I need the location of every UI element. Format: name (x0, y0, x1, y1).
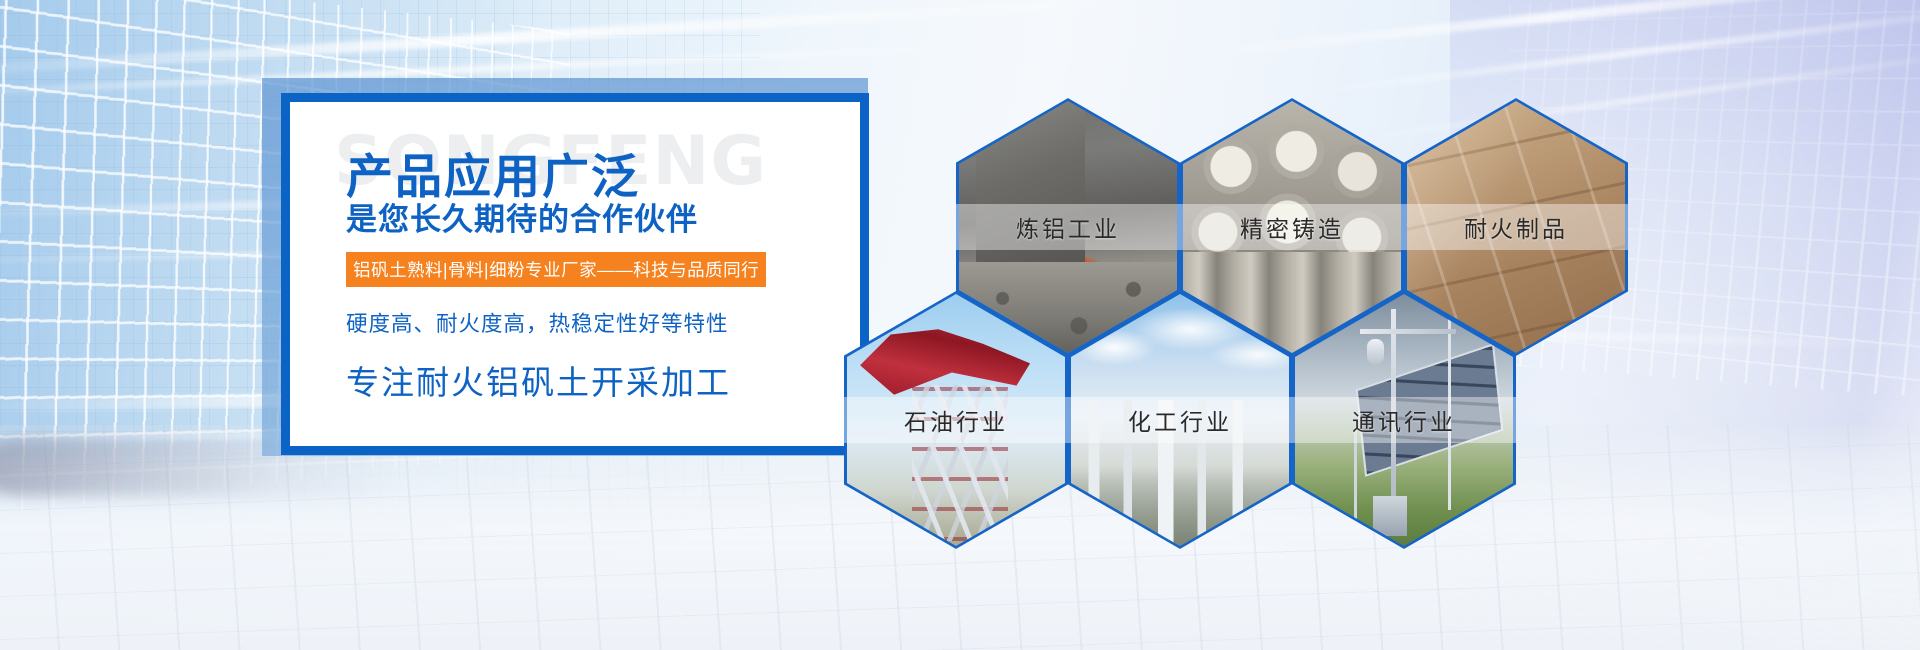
hex-label: 耐火制品 (1404, 204, 1628, 250)
orange-tagline-bar: 铝矾土熟料|骨料|细粉专业厂家——科技与品质同行 (346, 252, 766, 287)
text-panel: SONGFENG 产品应用广泛 是您长久期待的合作伙伴 铝矾土熟料|骨料|细粉专… (290, 102, 860, 446)
orange-tagline-text: 铝矾土熟料|骨料|细粉专业厂家——科技与品质同行 (353, 257, 759, 282)
hex-label: 石油行业 (844, 397, 1068, 443)
hex-label: 化工行业 (1068, 397, 1292, 443)
hex-label: 精密铸造 (1180, 204, 1404, 250)
promo-banner: SONGFENG 产品应用广泛 是您长久期待的合作伙伴 铝矾土熟料|骨料|细粉专… (0, 0, 1920, 650)
subheadline: 是您长久期待的合作伙伴 (346, 194, 698, 239)
hex-label: 通讯行业 (1292, 397, 1516, 443)
focus-line: 专注耐火铝矾土开采加工 (346, 356, 731, 404)
hex-label: 炼铝工业 (956, 204, 1180, 250)
feature-line: 硬度高、耐火度高，热稳定性好等特性 (346, 307, 729, 338)
